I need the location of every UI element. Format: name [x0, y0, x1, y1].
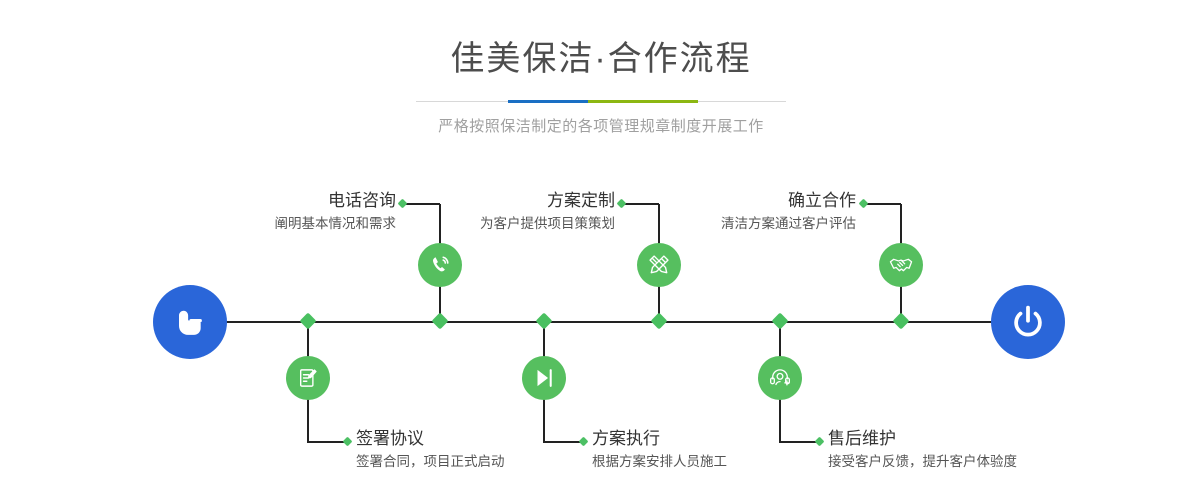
step-4-icon-badge[interactable]: [522, 356, 566, 400]
timeline-end-node[interactable]: [991, 285, 1065, 359]
step-4-axis-marker: [536, 313, 553, 330]
page-header: 佳美保洁·合作流程 严格按照保洁制定的各项管理规章制度开展工作: [0, 0, 1202, 137]
page-subtitle: 严格按照保洁制定的各项管理规章制度开展工作: [0, 117, 1202, 137]
step-5-desc: 接受客户反馈，提升客户体验度: [828, 452, 1017, 472]
flow-diagram-page: 佳美保洁·合作流程 严格按照保洁制定的各项管理规章制度开展工作: [0, 0, 1202, 502]
step-2-axis-marker: [300, 313, 317, 330]
step-6-connector-horizontal: [867, 203, 901, 205]
power-icon: [1008, 302, 1048, 342]
step-3-icon-badge[interactable]: [637, 243, 681, 287]
step-2-icon-badge[interactable]: [286, 356, 330, 400]
step-4-desc: 根据方案安排人员施工: [592, 452, 727, 472]
phone-call-icon: [427, 252, 453, 278]
play-execute-icon: [531, 365, 557, 391]
step-2-title: 签署协议: [356, 428, 505, 450]
pointing-hand-icon: [170, 302, 210, 342]
timeline-start-node[interactable]: [153, 285, 227, 359]
step-6-desc: 清洁方案通过客户评估: [470, 214, 856, 234]
step-1-axis-marker: [432, 313, 449, 330]
step-5-label-marker: [815, 437, 825, 447]
step-5-icon-badge[interactable]: [758, 356, 802, 400]
step-4-connector-horizontal: [543, 441, 583, 443]
step-6-axis-marker: [893, 313, 910, 330]
step-4-label: 方案执行 根据方案安排人员施工: [592, 428, 727, 472]
step-5-label: 售后维护 接受客户反馈，提升客户体验度: [828, 428, 1017, 472]
step-4-title: 方案执行: [592, 428, 727, 450]
step-2-label-marker: [343, 437, 353, 447]
page-title: 佳美保洁·合作流程: [0, 40, 1202, 78]
step-5-title: 售后维护: [828, 428, 1017, 450]
divider-blue-segment: [508, 100, 588, 103]
customer-service-icon: [767, 365, 793, 391]
step-5-connector-horizontal: [779, 441, 819, 443]
pencil-ruler-icon: [646, 252, 672, 278]
step-1-icon-badge[interactable]: [418, 243, 462, 287]
step-2-label: 签署协议 签署合同，项目正式启动: [356, 428, 505, 472]
step-2-connector-horizontal: [307, 441, 347, 443]
handshake-icon: [888, 252, 914, 278]
step-5-axis-marker: [772, 313, 789, 330]
title-divider: [416, 100, 786, 103]
step-2-desc: 签署合同，项目正式启动: [356, 452, 505, 472]
step-4-label-marker: [579, 437, 589, 447]
step-6-icon-badge[interactable]: [879, 243, 923, 287]
document-edit-icon: [295, 365, 321, 391]
step-6-title: 确立合作: [470, 190, 856, 212]
step-3-axis-marker: [651, 313, 668, 330]
divider-green-segment: [588, 100, 698, 103]
step-6-label: 确立合作 清洁方案通过客户评估: [470, 190, 856, 234]
step-6-label-marker: [859, 199, 869, 209]
